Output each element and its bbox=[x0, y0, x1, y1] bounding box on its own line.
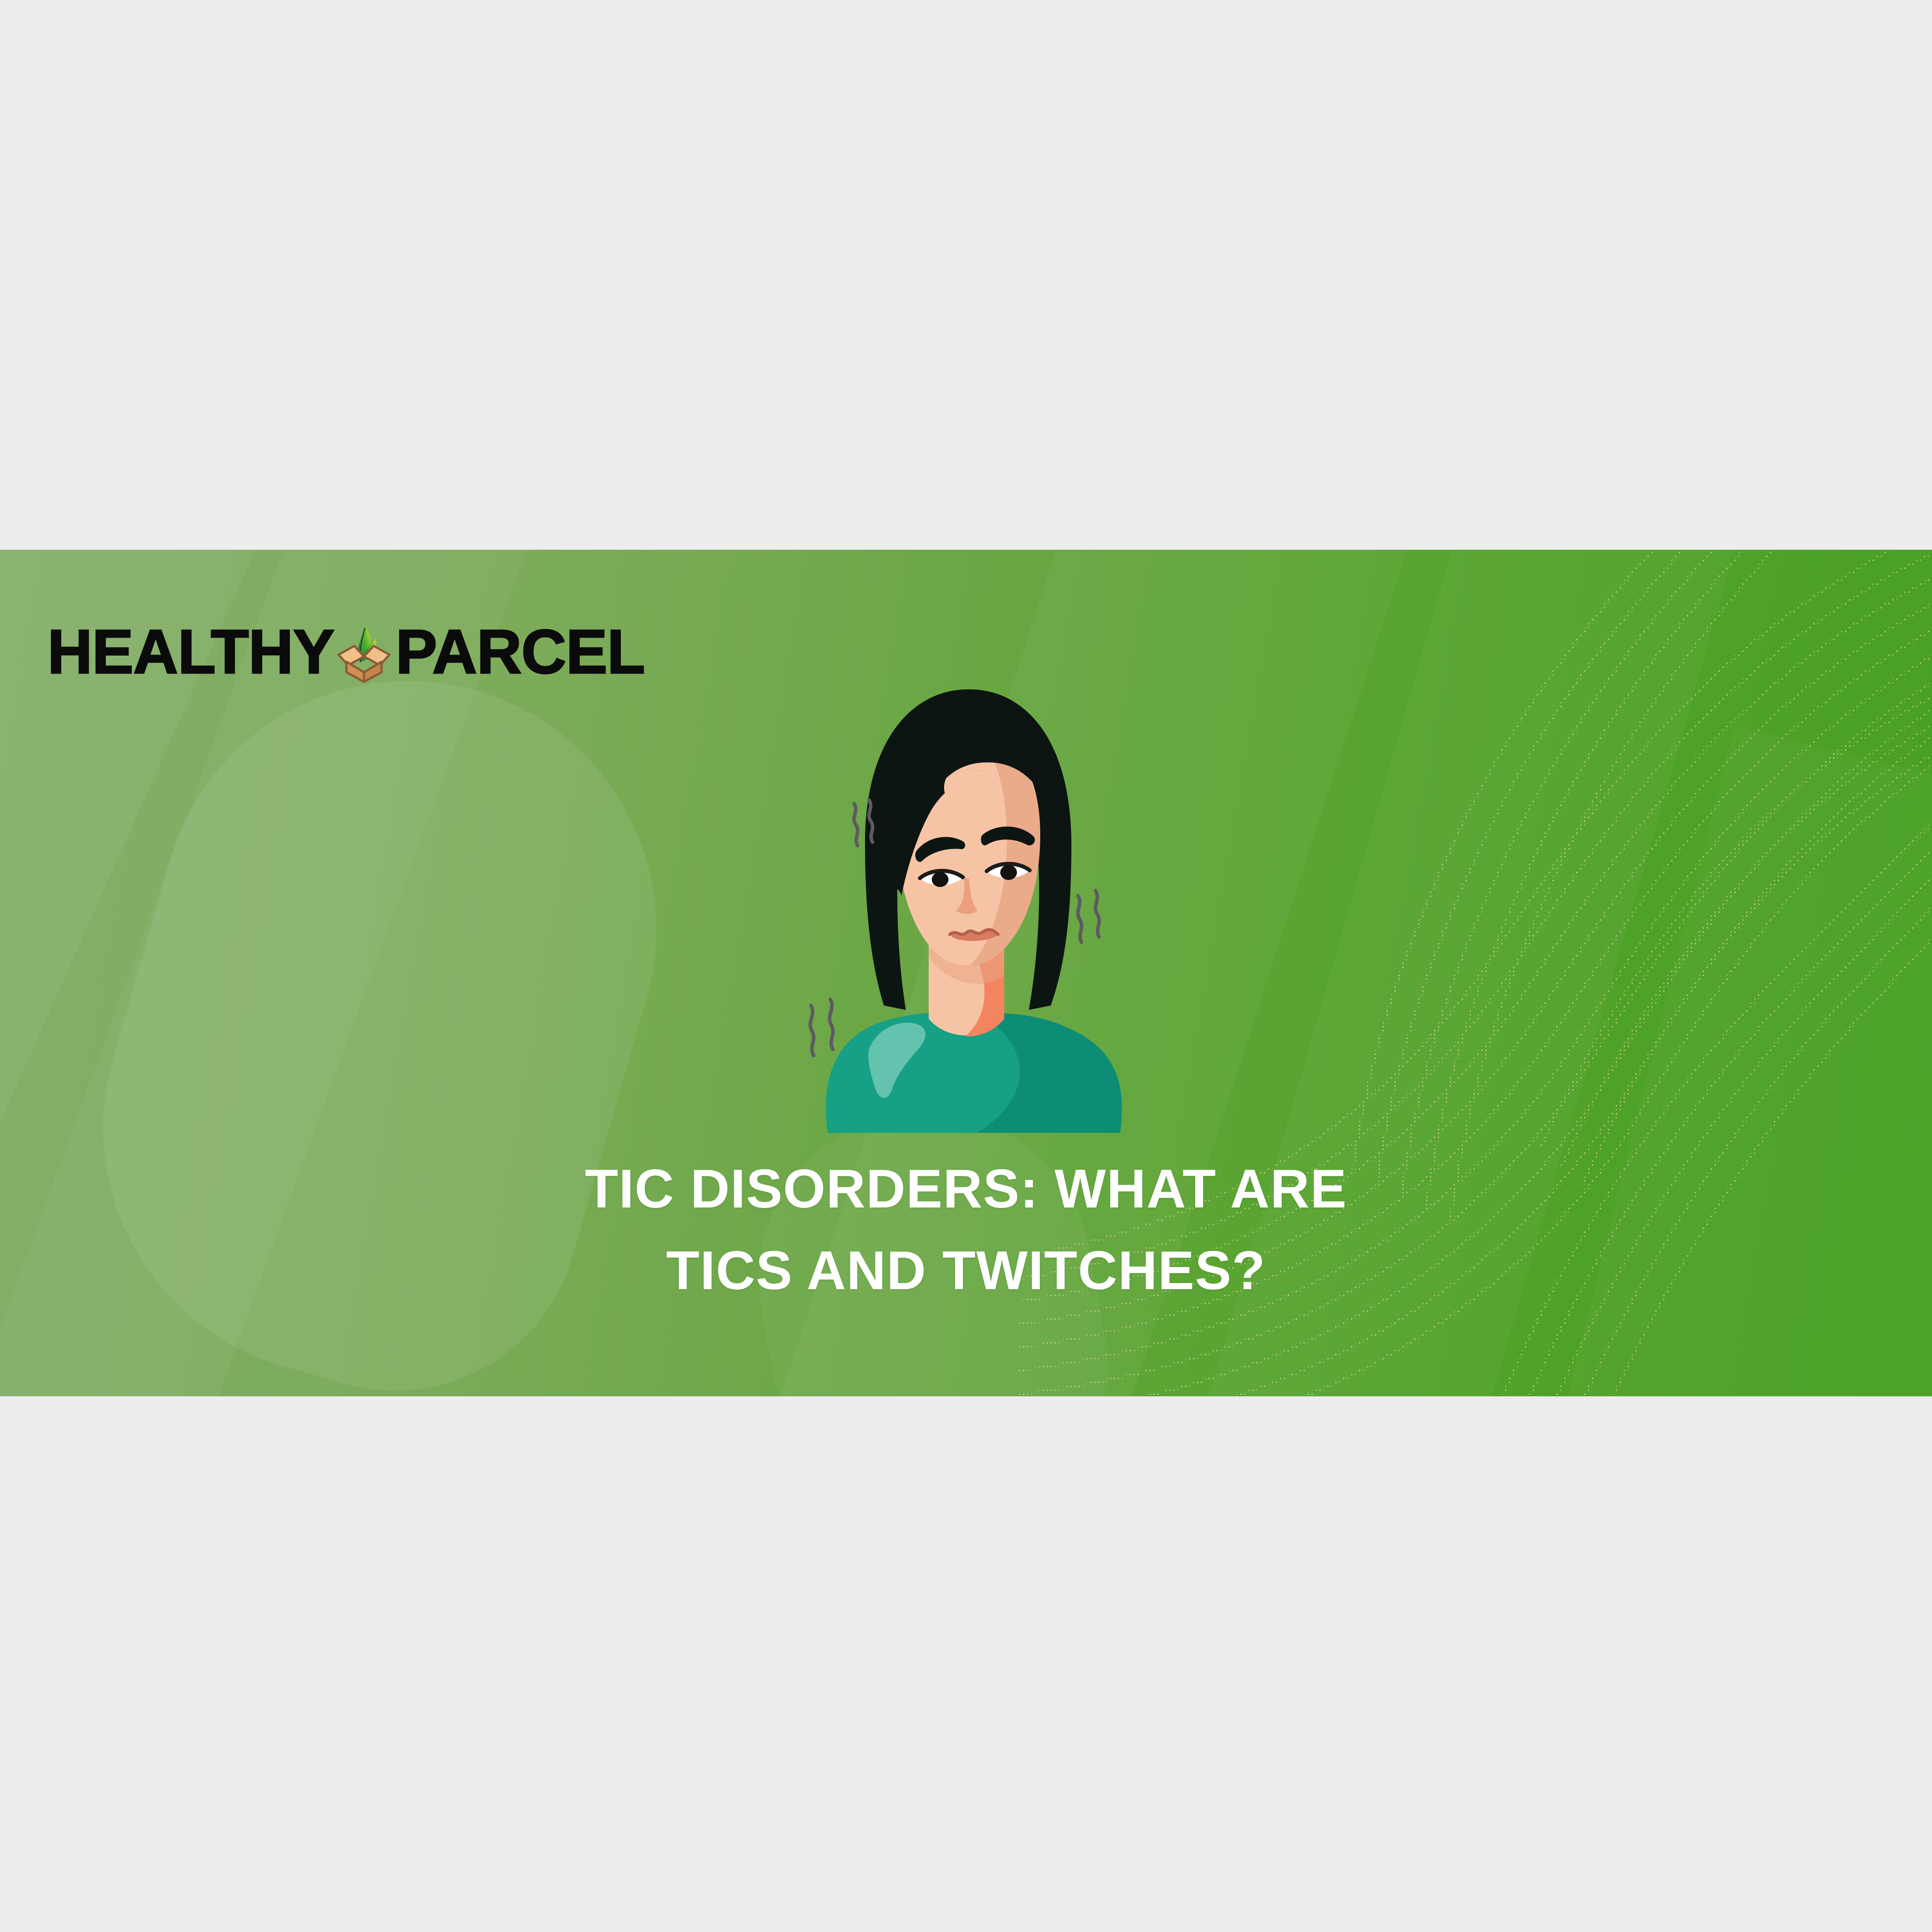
logo-word-parcel: PARCEL bbox=[396, 621, 645, 683]
twitch-mark-right-jaw bbox=[1078, 890, 1099, 942]
open-box-with-leaf-icon bbox=[335, 621, 393, 683]
twitch-mark-left-temple bbox=[854, 800, 872, 846]
site-logo[interactable]: HEALTHY bbox=[47, 619, 645, 685]
woman-with-facial-tic-illustration bbox=[788, 659, 1148, 1133]
banner-title-line-1: TIC DISORDERS: WHAT ARE bbox=[395, 1148, 1537, 1230]
twitch-mark-left-shoulder bbox=[810, 999, 833, 1056]
logo-word-healthy: HEALTHY bbox=[47, 621, 334, 683]
banner-title-line-2: TICS AND TWITCHES? bbox=[395, 1230, 1537, 1312]
hero-banner: HEALTHY bbox=[0, 550, 1932, 1396]
banner-title: TIC DISORDERS: WHAT ARE TICS AND TWITCHE… bbox=[395, 1148, 1537, 1312]
